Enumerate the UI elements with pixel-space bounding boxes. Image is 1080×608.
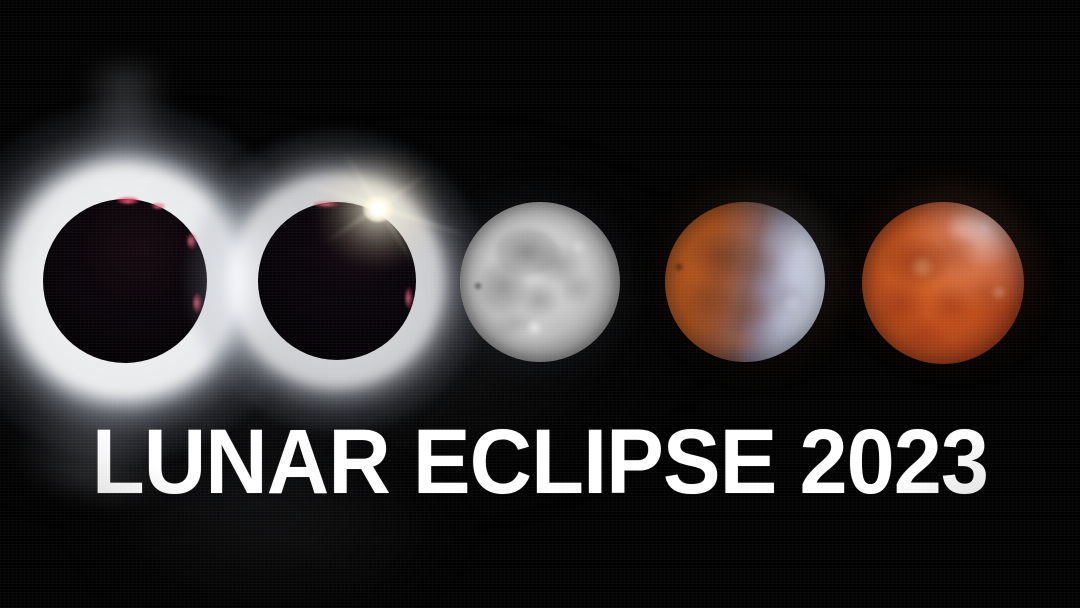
moon-disc [665,202,825,362]
eclipse-phase-4-partial [645,182,845,382]
moon-disc [862,202,1024,364]
lunar-maria [665,202,825,362]
limb-shading [460,202,620,362]
diamond-ring-core [363,196,393,222]
lunar-maria [862,202,1024,364]
moon-disc [460,202,620,362]
page-title: LUNAR ECLIPSE 2023 [32,416,1047,508]
limb-shading [665,202,825,362]
eclipse-phase-5-blood-moon [843,183,1043,383]
eclipse-phase-3-full-moon [440,182,640,382]
lunar-maria [460,202,620,362]
limb-shading [862,202,1024,364]
poster-canvas: LUNAR ECLIPSE 2023 [0,0,1080,608]
tycho-crater [526,320,544,336]
